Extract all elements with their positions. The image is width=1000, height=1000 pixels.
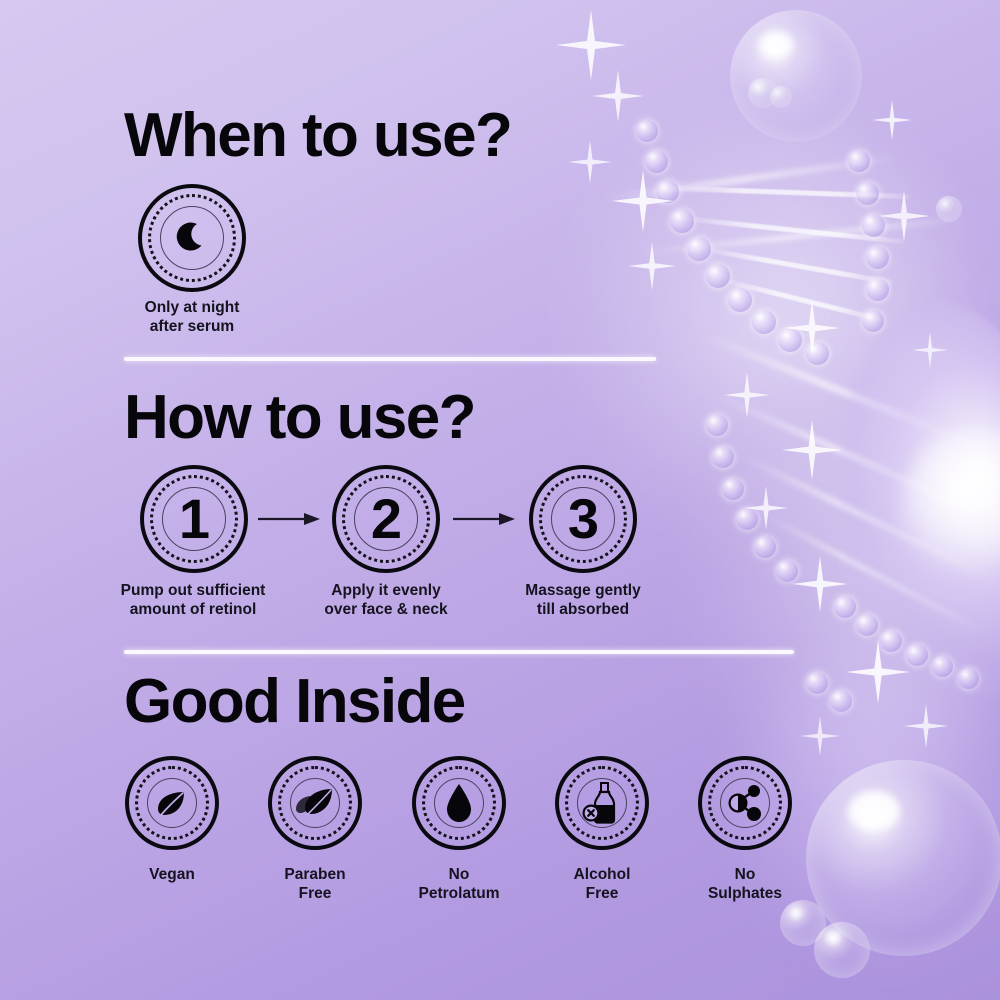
claim-label-paraben-free: Paraben Free: [240, 866, 390, 904]
arrow-right-icon: [258, 511, 320, 527]
step-caption-3: Massage gently till absorbed: [494, 582, 672, 620]
step-caption-1: Pump out sufficient amount of retinol: [104, 582, 282, 620]
claim-label-alcohol-free: Alcohol Free: [527, 866, 677, 904]
claim-label-no-sulphates: No Sulphates: [670, 866, 820, 904]
arrow-right-icon: [453, 511, 515, 527]
crescent-moon-icon: [171, 217, 213, 259]
step-number-3: 3: [568, 491, 598, 547]
claim-badge-paraben-free: [268, 756, 362, 850]
claim-badge-alcohol-free: [555, 756, 649, 850]
claim-label-no-petrolatum: No Petrolatum: [384, 866, 534, 904]
step-badge-3: 3: [529, 465, 637, 573]
step-number-1: 1: [179, 491, 209, 547]
step-number-2: 2: [371, 491, 401, 547]
claim-badge-no-petrolatum: [412, 756, 506, 850]
section-divider-2: [124, 650, 794, 654]
claim-badge-no-sulphates: [698, 756, 792, 850]
step-caption-2: Apply it evenly over face & neck: [297, 582, 475, 620]
claim-badge-vegan: [125, 756, 219, 850]
step-badge-2: 2: [332, 465, 440, 573]
two-leaves-icon: [295, 786, 335, 820]
molecule-icon: [725, 783, 765, 823]
how-to-use-heading: How to use?: [124, 382, 475, 453]
section-divider-1: [124, 357, 656, 361]
good-inside-heading: Good Inside: [124, 666, 465, 737]
when-to-use-badge: [138, 184, 246, 292]
content-layer: When to use? Only at night after serum H…: [0, 0, 1000, 1000]
step-badge-1: 1: [140, 465, 248, 573]
oil-drop-icon: [444, 783, 474, 823]
when-to-use-heading: When to use?: [124, 100, 511, 171]
product-infographic-poster: When to use? Only at night after serum H…: [0, 0, 1000, 1000]
when-to-use-caption: Only at night after serum: [104, 299, 280, 337]
bottle-no-alcohol-icon: [582, 782, 622, 824]
claim-label-vegan: Vegan: [97, 866, 247, 885]
leaf-icon: [153, 784, 191, 822]
